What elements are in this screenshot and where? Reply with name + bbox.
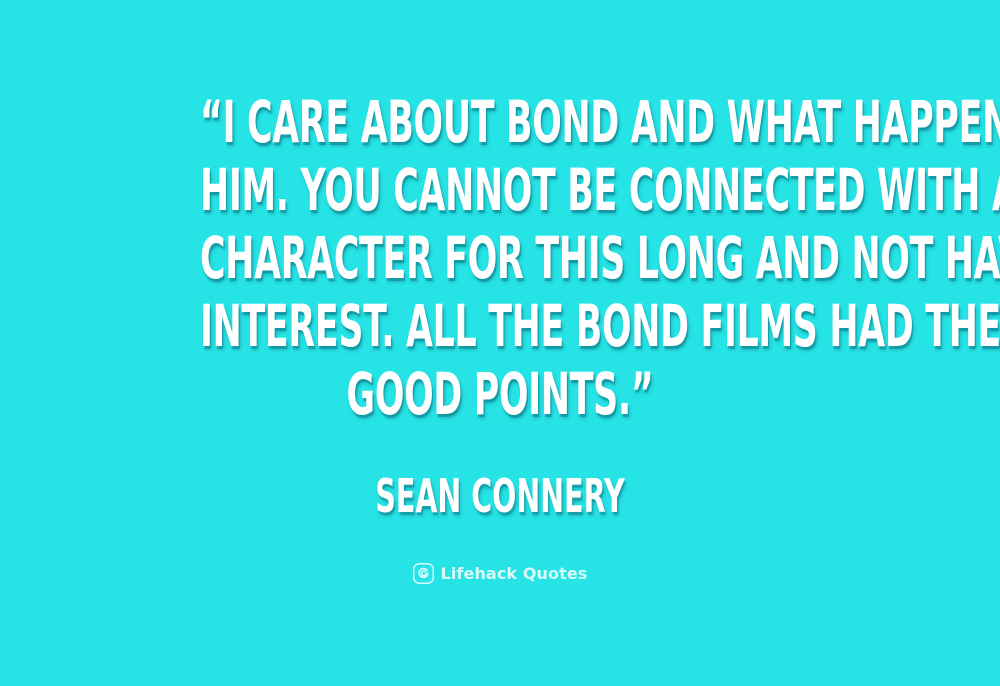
lifehack-circle-logo-icon (413, 563, 434, 584)
quote-line: HIM. YOU CANNOT BE CONNECTED WITH A (200, 156, 800, 224)
quote-text: “I CARE ABOUT BOND AND WHAT HAPPENS TO H… (0, 88, 1000, 428)
footer-brand: Lifehack Quotes (0, 563, 1000, 584)
quote-card: “I CARE ABOUT BOND AND WHAT HAPPENS TO H… (0, 0, 1000, 686)
author-name: SEAN CONNERY (190, 468, 810, 524)
quote-line: CHARACTER FOR THIS LONG AND NOT HAVE AN (200, 224, 800, 292)
brand-name: Lifehack Quotes (441, 563, 588, 584)
quote-line: GOOD POINTS.” (200, 360, 800, 428)
quote-line: “I CARE ABOUT BOND AND WHAT HAPPENS TO (200, 88, 800, 156)
quote-line: INTEREST. ALL THE BOND FILMS HAD THEIR (200, 292, 800, 360)
